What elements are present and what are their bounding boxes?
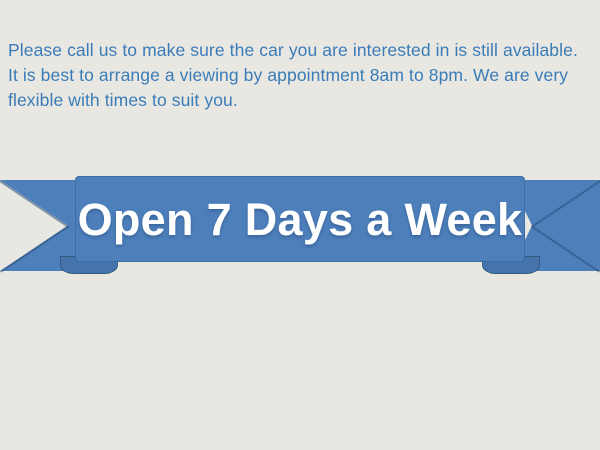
page-root: Please call us to make sure the car you … [0,0,600,450]
intro-paragraph: Please call us to make sure the car you … [8,38,583,113]
ribbon-title: Open 7 Days a Week [78,197,523,242]
ribbon-band: Open 7 Days a Week [75,176,525,262]
ribbon-banner: Open 7 Days a Week [0,168,600,283]
